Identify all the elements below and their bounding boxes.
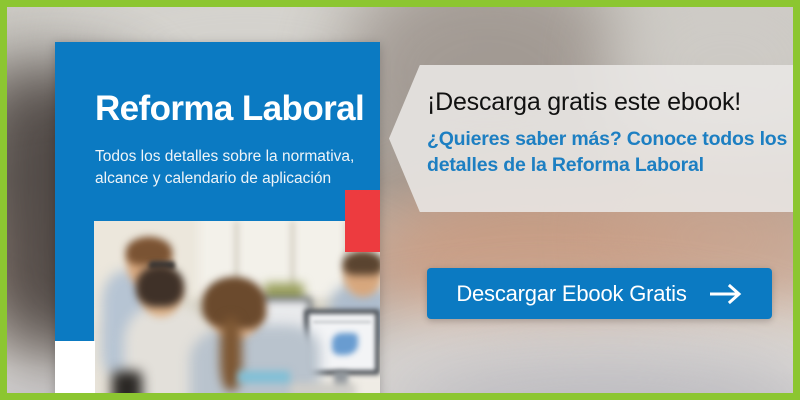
ebook-cover-subtitle: Todos los detalles sobre la normativa, a… bbox=[95, 146, 355, 191]
callout-text-block: ¡Descarga gratis este ebook! ¿Quieres sa… bbox=[427, 87, 790, 178]
photo-blur-shape bbox=[313, 321, 371, 323]
callout-headline: ¡Descarga gratis este ebook! bbox=[427, 87, 790, 117]
download-ebook-button-label: Descargar Ebook Gratis bbox=[456, 281, 686, 307]
photo-blur-shape bbox=[343, 251, 380, 275]
ebook-cover-photo bbox=[94, 221, 380, 400]
photo-blur-shape bbox=[238, 371, 290, 383]
photo-blur-shape bbox=[290, 383, 356, 397]
photo-blur-shape bbox=[112, 371, 142, 400]
download-ebook-button[interactable]: Descargar Ebook Gratis bbox=[427, 268, 772, 319]
cover-red-accent-block bbox=[345, 190, 380, 252]
callout-panel: ¡Descarga gratis este ebook! ¿Quieres sa… bbox=[389, 65, 800, 212]
callout-subheadline: ¿Quieres saber más? Conoce todos los det… bbox=[427, 127, 790, 178]
ebook-cover-title: Reforma Laboral bbox=[95, 90, 365, 129]
photo-blur-shape bbox=[332, 333, 358, 355]
cover-white-strip bbox=[55, 341, 95, 400]
ebook-promo-banner: Reforma Laboral Todos los detalles sobre… bbox=[0, 0, 800, 400]
arrow-right-icon bbox=[709, 283, 743, 305]
ebook-cover-card: Reforma Laboral Todos los detalles sobre… bbox=[55, 42, 380, 400]
photo-blur-shape bbox=[136, 265, 184, 307]
